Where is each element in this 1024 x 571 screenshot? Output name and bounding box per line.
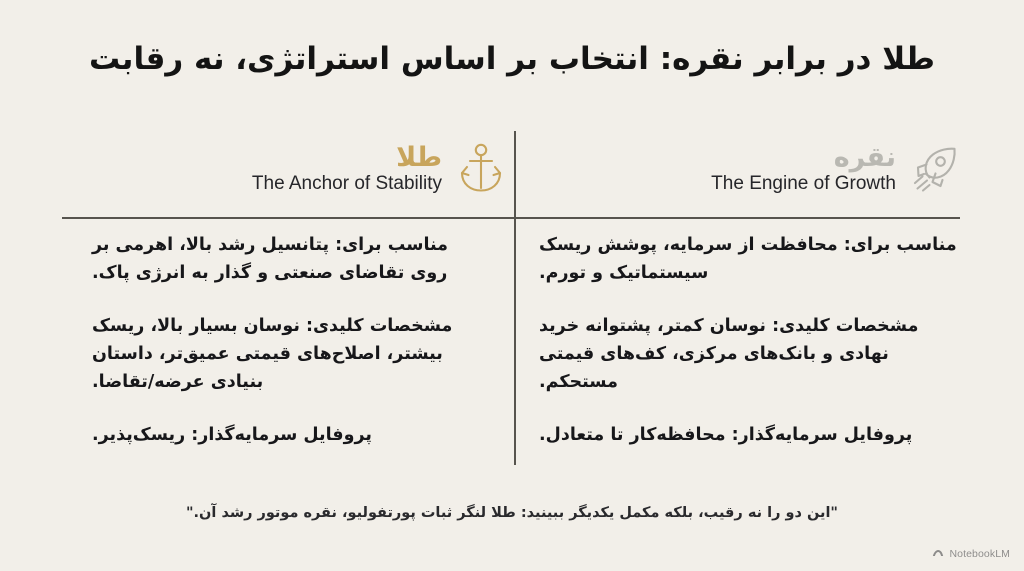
table-row: مناسب برای: محافظت از سرمایه، پوشش ریسک … (62, 232, 960, 313)
anchor-icon (454, 139, 508, 199)
table-row: مشخصات کلیدی: نوسان کمتر، پشتوانه خرید ن… (62, 313, 960, 422)
slide-canvas: طلا در برابر نقره: انتخاب بر اساس استرات… (0, 0, 1024, 571)
column-subtitle-gold: The Anchor of Stability (252, 174, 442, 195)
cell-silver-investor-profile: پروفایل سرمایه‌گذار: ریسک‌پذیر. (62, 422, 511, 450)
column-name-gold: طلا (396, 143, 442, 173)
page-title: طلا در برابر نقره: انتخاب بر اساس استرات… (0, 40, 1024, 79)
cell-gold-investor-profile: پروفایل سرمایه‌گذار: محافظه‌کار تا متعاد… (511, 422, 960, 450)
header-divider-horizontal (62, 217, 960, 219)
cell-silver-suitable-for: مناسب برای: پتانسیل رشد بالا، اهرمی بر ر… (62, 232, 511, 313)
footer-quote: "این دو را نه رقیب، بلکه مکمل یکدیگر ببی… (0, 505, 1024, 521)
comparison-table: مناسب برای: محافظت از سرمایه، پوشش ریسک … (62, 232, 960, 450)
column-header-gold: طلا The Anchor of Stability (54, 128, 508, 210)
cell-silver-key-features: مشخصات کلیدی: نوسان بسیار بالا، ریسک بیش… (62, 313, 511, 422)
column-name-silver: نقره (834, 143, 896, 173)
notebooklm-watermark: NotebookLM (932, 544, 1010, 563)
column-header-gold-text: طلا The Anchor of Stability (252, 143, 442, 196)
notebooklm-label: NotebookLM (949, 548, 1010, 560)
notebooklm-icon (932, 544, 944, 563)
column-header-silver: نقره The Engine of Growth (508, 128, 962, 210)
cell-gold-suitable-for: مناسب برای: محافظت از سرمایه، پوشش ریسک … (511, 232, 960, 313)
rocket-icon (908, 139, 962, 199)
table-row: پروفایل سرمایه‌گذار: محافظه‌کار تا متعاد… (62, 422, 960, 450)
column-header-silver-text: نقره The Engine of Growth (711, 143, 896, 196)
cell-gold-key-features: مشخصات کلیدی: نوسان کمتر، پشتوانه خرید ن… (511, 313, 960, 422)
column-subtitle-silver: The Engine of Growth (711, 174, 896, 195)
